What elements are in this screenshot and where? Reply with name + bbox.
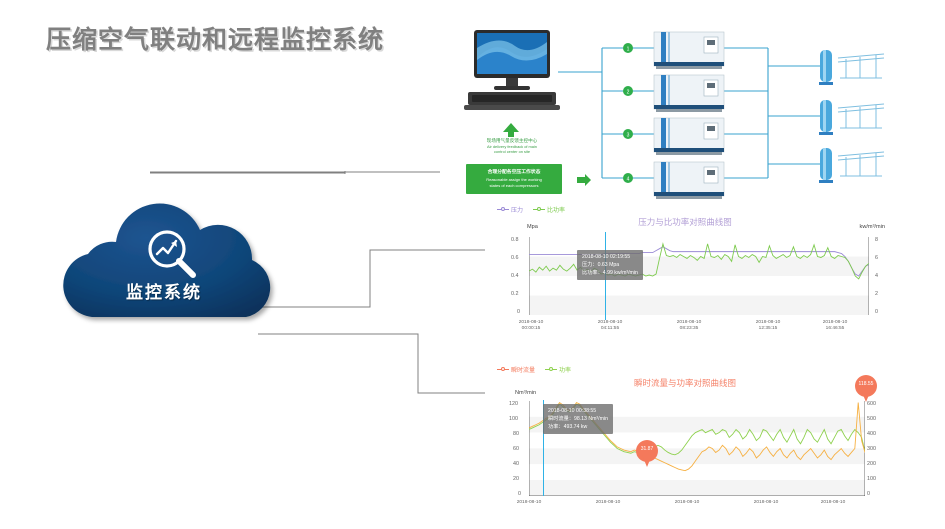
chart2-legend: 瞬时流量 功率 (497, 365, 571, 374)
arrow-up-icon (500, 122, 522, 138)
chart1-xtick-text: 2018-08-10 16:46:55 (805, 320, 865, 332)
chart2-xtick: 2018-08-10 (578, 500, 638, 506)
chart1-xtick-text: 2018-08-10 04:11:55 (580, 320, 640, 332)
chart-flow-vs-power: 瞬时流量 功率 瞬时流量与功率对照曲线图 Nm³/min 120 100 80 … (485, 362, 885, 529)
chart2-y2tick: 200 (867, 461, 876, 467)
desktop-monitor-icon (460, 28, 564, 120)
legend-label: 功率 (559, 365, 571, 374)
chart1-ytick: 0.2 (511, 291, 519, 297)
chart2-y2tick: 400 (867, 431, 876, 437)
chart1-ytick: 0.6 (511, 255, 519, 261)
green-box-en-line1: Reasonable assign the working (486, 177, 542, 182)
chart2-y2tick: 100 (867, 476, 876, 482)
tooltip-line2: 功率：493.74 kw (548, 423, 608, 431)
pin-label: 31.87 (633, 446, 661, 452)
status-node-group: 1 2 3 4 (623, 43, 633, 183)
page-title: 压缩空气联动和远程监控系统 (46, 20, 384, 56)
air-tank-group (819, 50, 884, 183)
chart1-ytick: 0 (517, 309, 520, 315)
legend-marker-icon (533, 207, 545, 213)
chart-pressure-vs-specific-power: 压力 比功率 压力与比功率对照曲线图 Mpa kw/m³/min 0.8 0.6… (485, 202, 885, 332)
chart2-title: 瞬时流量与功率对照曲线图 (585, 377, 785, 389)
chart2-xtick: 2018-08-10 (736, 500, 796, 506)
tooltip-time: 2018-08-10 00:38:55 (548, 407, 608, 415)
chart2-y2tick: 0 (867, 491, 870, 497)
green-box-cn: 合理分配各空压工作状态 (488, 170, 541, 176)
legend-marker-icon (497, 207, 509, 213)
chart-magnifier-icon (144, 226, 200, 282)
chart1-ytick: 0.8 (511, 237, 519, 243)
cloud-label: 监控系统 (38, 278, 290, 303)
legend-item-pressure[interactable]: 压力 (497, 205, 523, 214)
chart1-xtick: 2018-08-10 12:35:15 (738, 320, 798, 332)
green-status-box: 合理分配各空压工作状态 Reasonable assign the workin… (466, 164, 562, 194)
tooltip-line1: 压力：0.63 Mpa (582, 261, 638, 269)
slide-canvas: 压缩空气联动和远程监控系统 (0, 0, 945, 529)
chart1-y2tick: 6 (875, 255, 878, 261)
chart2-ytick: 80 (513, 431, 519, 437)
chart2-ytick: 60 (513, 446, 519, 452)
legend-item-specific-power[interactable]: 比功率 (533, 205, 565, 214)
tooltip-time: 2018-08-10 02:19:55 (582, 253, 638, 261)
chart1-xtick-text: 2018-08-10 00:00:15 (501, 320, 561, 332)
chart1-xtick: 2018-08-10 08:23:35 (659, 320, 719, 332)
pin-label: 118.55 (852, 381, 880, 387)
chart2-y2tick: 500 (867, 416, 876, 422)
svg-text:4: 4 (627, 177, 630, 183)
green-box-en: Reasonable assign the working states of … (486, 177, 542, 188)
chart2-ytick: 120 (509, 401, 518, 407)
svg-text:3: 3 (627, 133, 630, 139)
chart2-xtick: 2018-08-10 (657, 500, 717, 506)
tooltip-line2: 比功率：4.99 kw/m³/min (582, 269, 638, 277)
chart1-title: 压力与比功率对照曲线图 (585, 216, 785, 228)
chart2-ytick: 40 (513, 461, 519, 467)
chart1-tooltip: 2018-08-10 02:19:55 压力：0.63 Mpa 比功率：4.99… (577, 250, 643, 280)
legend-label: 瞬时流量 (511, 365, 535, 374)
monitoring-cloud[interactable]: 监控系统 (38, 196, 290, 336)
legend-marker-icon (497, 367, 509, 373)
legend-label: 压力 (511, 205, 523, 214)
legend-label: 比功率 (547, 205, 565, 214)
chart1-ytick: 0.4 (511, 273, 519, 279)
chart2-y2tick: 300 (867, 446, 876, 452)
chart1-y2-axis-unit: kw/m³/min (860, 224, 885, 230)
chart1-xtick: 2018-08-10 04:11:55 (580, 320, 640, 332)
legend-item-power[interactable]: 功率 (545, 365, 571, 374)
chart1-xtick: 2018-08-10 16:46:55 (805, 320, 865, 332)
chart1-xtick: 2018-08-10 00:00:15 (501, 320, 561, 332)
legend-item-flow[interactable]: 瞬时流量 (497, 365, 535, 374)
chart2-y2tick: 600 (867, 401, 876, 407)
diagram-caption-en: Air delivery feedback of main control ce… (448, 144, 576, 155)
chart1-y-axis-unit: Mpa (527, 224, 538, 230)
chart1-xtick-text: 2018-08-10 12:35:15 (738, 320, 798, 332)
chart2-xtick: 2018-08-10 (499, 500, 559, 506)
chart1-y2tick: 0 (875, 309, 878, 315)
chart2-ytick: 0 (518, 491, 521, 497)
tooltip-line1: 瞬时流量：98.13 Nm³/min (548, 415, 608, 423)
chart2-ytick: 20 (513, 476, 519, 482)
svg-text:1: 1 (627, 47, 630, 53)
chart2-ytick: 100 (509, 416, 518, 422)
chart1-y2tick: 4 (875, 273, 878, 279)
green-box-en-line2: states of each compressors (486, 183, 542, 188)
diagram-caption-en-line2: control center on site (448, 149, 576, 154)
legend-marker-icon (545, 367, 557, 373)
chart1-y2tick: 8 (875, 237, 878, 243)
compressor-group (654, 32, 724, 199)
chart2-xtick: 2018-08-10 (803, 500, 863, 506)
chart1-xtick-text: 2018-08-10 08:23:35 (659, 320, 719, 332)
chart1-y2tick: 2 (875, 291, 878, 297)
svg-text:2: 2 (627, 90, 630, 96)
chart2-tooltip: 2018-08-10 00:38:55 瞬时流量：98.13 Nm³/min 功… (543, 404, 613, 434)
piping-schematic: 1 2 3 4 (558, 24, 945, 200)
chart1-legend: 压力 比功率 (497, 205, 565, 214)
chart2-y-axis-unit: Nm³/min (515, 390, 536, 396)
system-diagram: 现场用气量反馈主控中心 Air delivery feedback of mai… (440, 18, 945, 200)
